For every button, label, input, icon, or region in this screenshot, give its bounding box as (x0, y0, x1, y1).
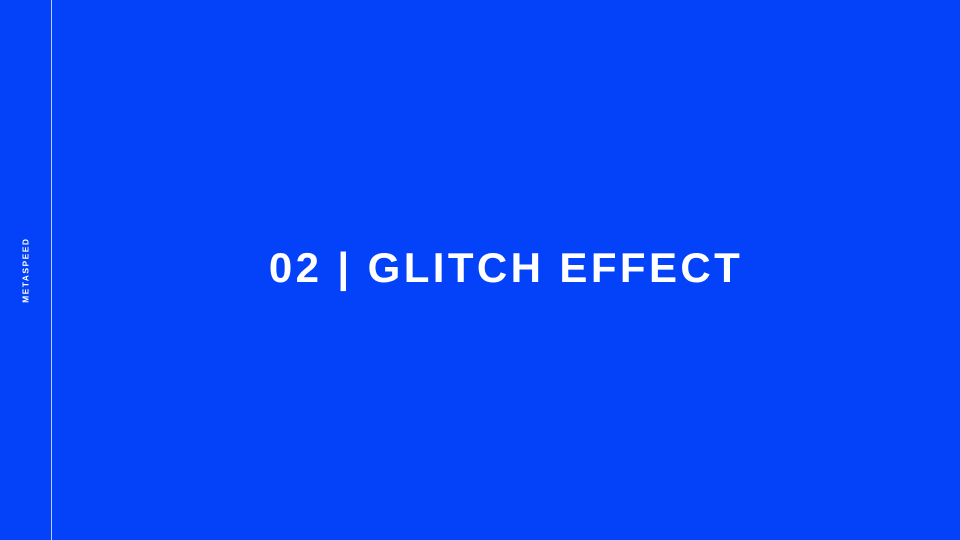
slide-content: 02 | GLITCH EFFECT (52, 0, 960, 540)
side-rail: METASPEED (0, 0, 51, 540)
brand-label: METASPEED (21, 237, 30, 302)
section-title: 02 | GLITCH EFFECT (269, 247, 743, 289)
slide-canvas: METASPEED 02 | GLITCH EFFECT (0, 0, 960, 540)
